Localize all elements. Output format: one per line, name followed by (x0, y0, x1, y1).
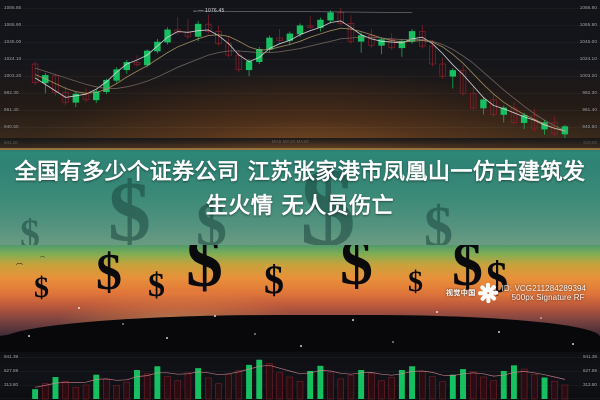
top-axis-right-4: 1003.20 (580, 73, 597, 78)
top-axis-right-7: 940.50 (582, 124, 597, 129)
starburst-icon (477, 282, 499, 304)
watermark-id: ID: VCG211284289394 (502, 284, 586, 293)
bird-silhouette-icon: ︵ (40, 254, 45, 259)
dollar-sign-silhouette: $ (96, 251, 122, 296)
dollar-sign-silhouette: $ (148, 271, 165, 300)
top-axis-left-2: 1045.00 (4, 39, 21, 44)
vol-axis-left-0: 941.39 (4, 354, 18, 359)
top-axis-left-3: 1024.10 (4, 56, 21, 61)
top-axis-left-7: 940.50 (4, 124, 19, 129)
top-axis-left-1: 1065.90 (4, 22, 21, 27)
ma-legend-faint: MA5 MA10 MA20 (272, 139, 309, 144)
top-axis-right-6: 961.40 (582, 107, 597, 112)
top-axis-right-3: 1024.10 (580, 56, 597, 61)
vol-axis-left-2: 313.80 (4, 382, 18, 387)
volume-bar-series (0, 352, 600, 400)
top-axis-left-5: 982.30 (4, 90, 19, 95)
top-axis-left-0: 1086.80 (4, 5, 21, 10)
dollar-sign-silhouette: $ (264, 263, 284, 297)
light-speck (572, 343, 574, 345)
top-axis-right-2: 1045.00 (580, 39, 597, 44)
watermark-license: 500px Signature RF (502, 293, 586, 302)
light-speck (498, 331, 500, 333)
light-speck (352, 319, 354, 321)
top-axis-right-1: 1065.90 (580, 22, 597, 27)
top-axis-left-6: 961.40 (4, 107, 19, 112)
vol-axis-right-2: 313.80 (583, 382, 597, 387)
watermark-brand-label: 视觉中国 (446, 288, 476, 298)
dollar-sign-silhouette: $ (408, 269, 423, 295)
light-speck (300, 345, 302, 347)
vol-axis-right-0: 941.39 (583, 354, 597, 359)
headline-band: 941.10 MA5 MA10 MA20 919.60 $ $ $ $ $ 全国… (0, 148, 600, 258)
candlestick-chart-panel: 1086.80 1065.90 1045.00 1024.10 1003.20 … (0, 0, 600, 150)
top-axis-right-8: 919.60 (583, 140, 597, 145)
top-axis-left-8: 941.10 (4, 140, 18, 145)
price-annotation: ←— 1076.45 (193, 8, 224, 14)
article-thumbnail: 1086.80 1065.90 1045.00 1024.10 1003.20 … (0, 0, 600, 400)
vol-axis-right-1: 627.59 (583, 368, 597, 373)
watermark-text-group: ID: VCG211284289394 500px Signature RF (502, 284, 586, 302)
foreground-ground (0, 315, 600, 355)
volume-chart-panel: 941.39 627.59 313.80 941.39 627.59 313.8… (0, 352, 600, 400)
light-speck (214, 315, 216, 317)
dollar-sign-silhouette: $ (340, 245, 373, 292)
light-speck (540, 317, 542, 319)
top-axis-right-5: 982.30 (582, 90, 597, 95)
dollar-sign-silhouette: $ (34, 275, 49, 301)
dollar-sign-silhouette: $ (186, 245, 223, 295)
candlestick-series (0, 0, 600, 150)
light-speck (28, 335, 30, 337)
page-title: 全国有多少个证券公司 江苏张家港市凤凰山一仿古建筑发生火情 无人员伤亡 (0, 156, 600, 224)
top-axis-right-0: 1086.80 (580, 5, 597, 10)
top-axis-left-4: 1003.20 (4, 73, 21, 78)
bird-silhouette-icon: ︵ (16, 259, 23, 266)
watermark: 视觉中国 ID: VCG211284289394 500px Signature… (446, 282, 586, 304)
vol-axis-left-1: 627.59 (4, 368, 18, 373)
light-speck (436, 311, 438, 313)
light-speck (78, 307, 80, 309)
light-speck (166, 337, 168, 339)
